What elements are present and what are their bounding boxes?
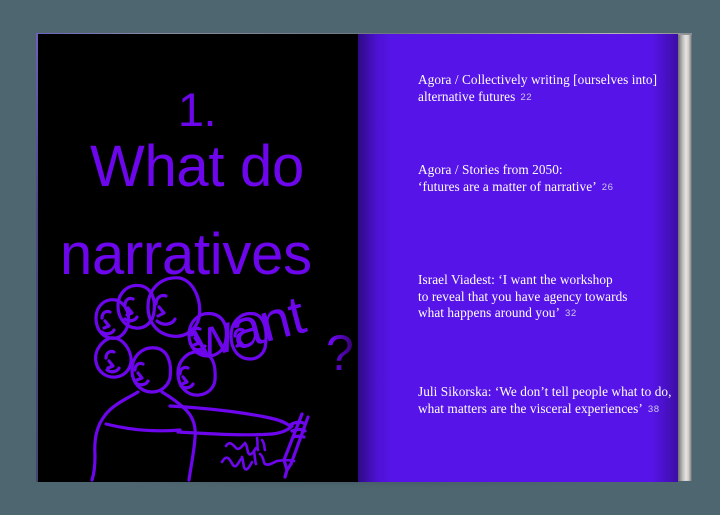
toc-entry-line: what matters are the visceral experience…	[418, 401, 670, 419]
page-edge-stack	[678, 34, 692, 481]
toc-entry-line: Agora / Collectively writing [ourselves …	[418, 72, 670, 89]
headline-line-2: narratives	[60, 226, 312, 284]
toc-entry[interactable]: Agora / Stories from 2050: ‘futures are …	[418, 162, 670, 196]
headline-line-1: What do	[36, 138, 358, 196]
toc-entry[interactable]: Israel Viadest: ‘I want the workshop to …	[418, 272, 670, 323]
headline-question-mark: ?	[326, 324, 354, 382]
toc-entry-line-text: what matters are the visceral experience…	[418, 401, 643, 416]
toc-page-number: 26	[597, 182, 614, 193]
toc-entry-line-text: alternative futures	[418, 89, 515, 104]
toc-entry[interactable]: Agora / Collectively writing [ourselves …	[418, 72, 670, 106]
toc-page-number: 32	[560, 308, 577, 319]
toc-entry-line: Juli Sikorska: ‘We don’t tell people wha…	[418, 384, 670, 401]
toc-entry-line: to reveal that you have agency towards	[418, 289, 670, 306]
chapter-number: 1.	[36, 86, 358, 133]
table-of-contents: Agora / Collectively writing [ourselves …	[418, 34, 668, 482]
toc-page-number: 38	[643, 404, 660, 415]
toc-entry-line: ‘futures are a matter of narrative’26	[418, 179, 670, 197]
toc-entry-line-text: ‘futures are a matter of narrative’	[418, 179, 597, 194]
left-page: 1. What do narratives want ?	[36, 34, 358, 482]
toc-entry-line: what happens around you’32	[418, 305, 670, 323]
open-book: 1. What do narratives want ?	[36, 33, 692, 483]
toc-entry[interactable]: Juli Sikorska: ‘We don’t tell people wha…	[418, 384, 670, 418]
toc-entry-line: Israel Viadest: ‘I want the workshop	[418, 272, 670, 289]
chapter-headline: 1. What do narratives want ?	[36, 34, 358, 482]
toc-entry-line-text: what happens around you’	[418, 305, 560, 320]
right-page-gutter-shadow	[358, 34, 392, 482]
toc-entry-line: alternative futures22	[418, 89, 670, 107]
headline-word-want: want	[186, 284, 311, 372]
right-page: Agora / Collectively writing [ourselves …	[358, 34, 678, 482]
toc-entry-line: Agora / Stories from 2050:	[418, 162, 670, 179]
toc-page-number: 22	[515, 92, 532, 103]
photo-canvas: 1. What do narratives want ?	[0, 0, 720, 515]
